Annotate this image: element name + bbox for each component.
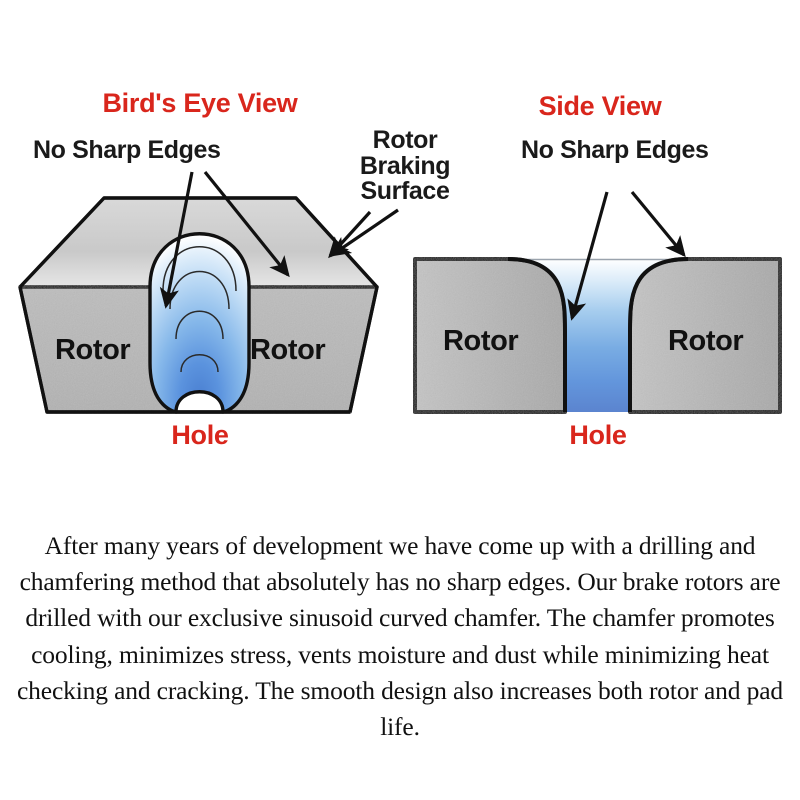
birds-eye-rotor-left-label: Rotor <box>55 334 130 367</box>
side-view-rotor-right-label: Rotor <box>668 325 743 358</box>
chamfer-bowl <box>150 234 249 412</box>
side-view-rotor-left-label: Rotor <box>443 325 518 358</box>
description-paragraph: After many years of development we have … <box>8 528 792 745</box>
birds-eye-title: Bird's Eye View <box>70 88 330 119</box>
chamfer-bowl-fill <box>150 234 249 412</box>
side-view-callout-no-sharp-edges: No Sharp Edges <box>521 138 709 163</box>
side-view-hole-label: Hole <box>538 420 658 451</box>
callout-line-surface: Surface <box>345 179 465 205</box>
arrow-side-no-sharp-edges-right <box>632 192 684 255</box>
callout-line-braking: Braking <box>345 154 465 180</box>
birds-eye-callout-rotor-braking-surface: Rotor Braking Surface <box>345 128 465 205</box>
side-view-title: Side View <box>500 91 700 122</box>
diagram-page: Bird's Eye View No Sharp Edges Rotor Bra… <box>0 0 800 800</box>
birds-eye-block <box>20 198 377 412</box>
birds-eye-hole-label: Hole <box>140 420 260 451</box>
callout-line-rotor: Rotor <box>345 128 465 154</box>
birds-eye-rotor-right-label: Rotor <box>250 334 325 367</box>
birds-eye-callout-no-sharp-edges: No Sharp Edges <box>33 138 221 163</box>
